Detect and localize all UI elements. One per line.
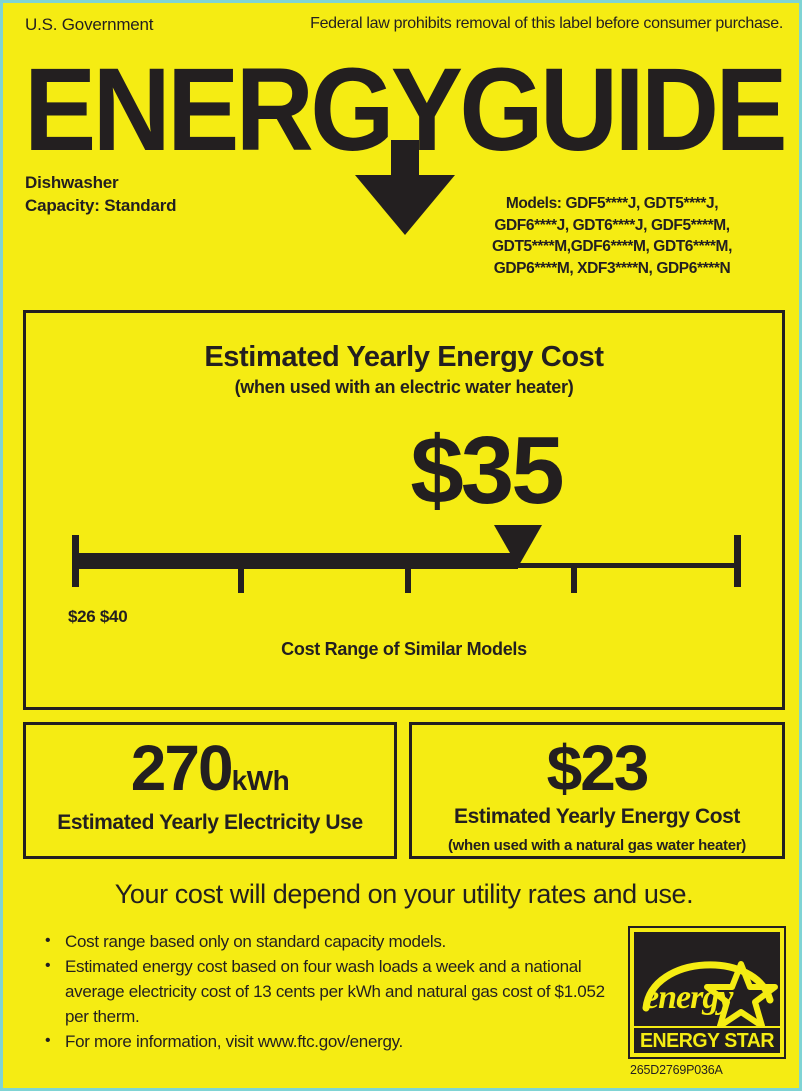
electricity-value-wrap: 270kWh [26, 736, 394, 800]
model-line-2: GDF6****J, GDT6****J, GDF5****M, [447, 215, 777, 237]
energy-star-logo: energy ENERGY STAR [628, 926, 786, 1059]
cost-range-endpoints: $26 $40 [68, 607, 127, 627]
us-government-text: U.S. Government [25, 15, 153, 35]
footnote-item: Estimated energy cost based on four wash… [41, 954, 621, 1029]
cost-marker-triangle [494, 525, 542, 567]
product-type: Dishwasher [25, 171, 176, 194]
energyguide-label: U.S. Government Federal law prohibits re… [0, 0, 802, 1091]
estimated-yearly-gas-cost-box: $23 Estimated Yearly Energy Cost (when u… [409, 722, 785, 859]
product-description: Dishwasher Capacity: Standard [25, 171, 176, 217]
gas-sub-caption: (when used with a natural gas water heat… [412, 837, 782, 854]
electricity-caption: Estimated Yearly Electricity Use [26, 811, 394, 835]
estimated-yearly-electricity-use-box: 270kWh Estimated Yearly Electricity Use [23, 722, 397, 859]
panel-subtitle: (when used with an electric water heater… [26, 377, 782, 398]
utility-rates-tagline: Your cost will depend on your utility ra… [3, 879, 802, 910]
footnotes-list: Cost range based only on standard capaci… [41, 929, 621, 1054]
estimated-yearly-energy-cost-panel: Estimated Yearly Energy Cost (when used … [23, 310, 785, 710]
gas-value-wrap: $23 [412, 736, 782, 800]
footnote-item: Cost range based only on standard capaci… [41, 929, 621, 954]
gas-value: $23 [547, 732, 648, 804]
cost-range-caption: Cost Range of Similar Models [26, 639, 782, 660]
model-line-4: GDP6****M, XDF3****N, GDP6****N [447, 258, 777, 280]
svg-text:ENERGY STAR: ENERGY STAR [640, 1030, 775, 1052]
primary-cost-value: $35 [410, 423, 561, 519]
model-line-3: GDT5****M,GDF6****M, GDT6****M, [447, 236, 777, 258]
footnote-item: For more information, visit www.ftc.gov/… [41, 1029, 621, 1054]
gas-caption: Estimated Yearly Energy Cost [412, 805, 782, 829]
label-code: 265D2769P036A [630, 1063, 723, 1077]
electricity-value: 270 [131, 732, 232, 804]
model-line-1: Models: GDF5****J, GDT5****J, [447, 193, 777, 215]
electricity-unit: kWh [232, 765, 290, 796]
product-capacity: Capacity: Standard [25, 194, 176, 217]
federal-law-notice: Federal law prohibits removal of this la… [310, 15, 783, 33]
model-numbers: Models: GDF5****J, GDT5****J, GDF6****J,… [447, 193, 777, 279]
panel-title: Estimated Yearly Energy Cost [26, 341, 782, 374]
